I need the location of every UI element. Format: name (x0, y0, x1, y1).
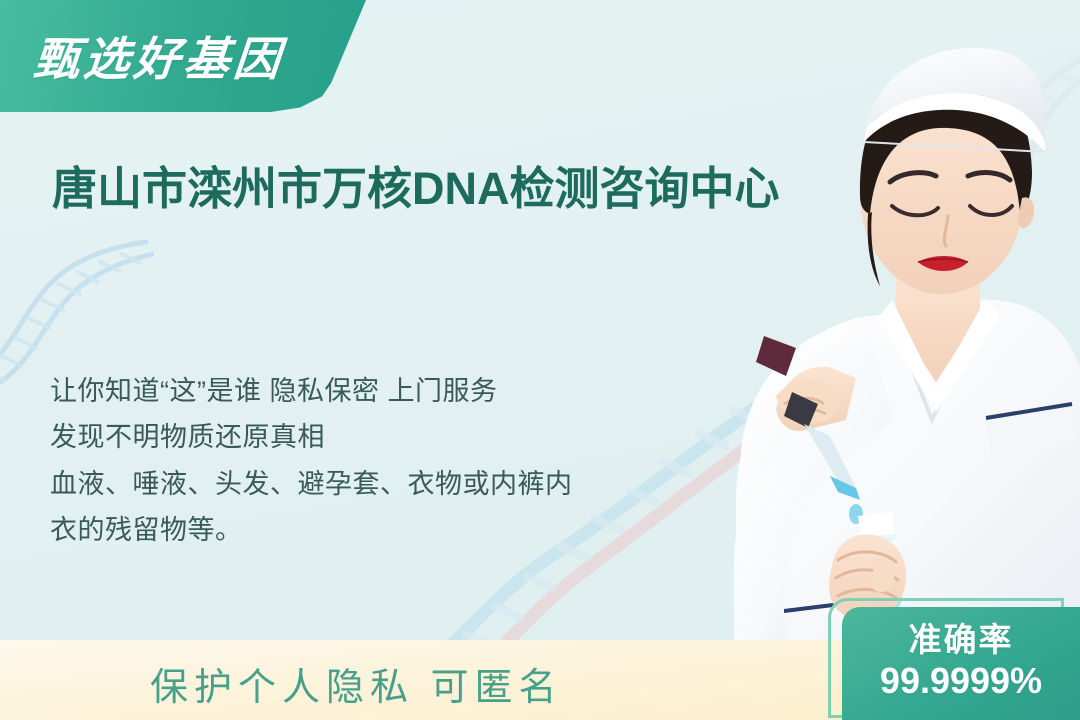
brand-banner: 甄选好基因 (0, 0, 366, 112)
description-line-3: 血液、唾液、头发、避孕套、衣物或内裤内 (50, 461, 750, 507)
description-line-2: 发现不明物质还原真相 (50, 414, 750, 460)
accuracy-badge: 准确率 99.9999% (828, 598, 1080, 720)
description-block: 让你知道“这”是谁 隐私保密 上门服务 发现不明物质还原真相 血液、唾液、头发、… (50, 368, 750, 554)
dna-helix-watermark-topleft (0, 238, 154, 388)
description-line-4: 衣的残留物等。 (50, 507, 750, 553)
accuracy-badge-value: 99.9999% (880, 660, 1042, 701)
description-line-1: 让你知道“这”是谁 隐私保密 上门服务 (50, 368, 750, 414)
accuracy-badge-body: 准确率 99.9999% (842, 607, 1080, 720)
page-title: 唐山市滦州市万核DNA检测咨询中心 (52, 160, 842, 218)
nurse-photo (680, 0, 1080, 668)
promo-poster: 甄选好基因 唐山市滦州市万核DNA检测咨询中心 让你知道“这”是谁 隐私保密 上… (0, 0, 1080, 720)
brand-banner-label: 甄选好基因 (31, 23, 287, 89)
accuracy-badge-label: 准确率 (909, 623, 1014, 658)
bottom-banner-label: 保护个人隐私 可匿名 (150, 656, 563, 711)
